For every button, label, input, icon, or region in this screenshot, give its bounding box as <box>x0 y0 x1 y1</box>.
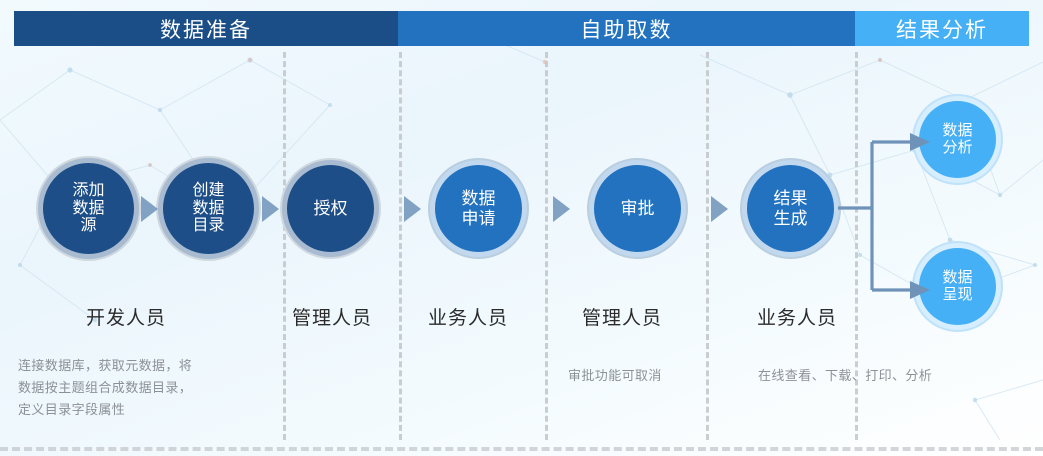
role-text: 开发人员 <box>86 308 166 329</box>
node-result-generation[interactable]: 结果生成 <box>742 160 839 257</box>
node-create-catalog[interactable]: 创建数据目录 <box>158 158 259 259</box>
phase-band-self-service-query[interactable]: 自助取数 <box>398 11 855 46</box>
description-result: 在线查看、下载、打印、分析 <box>758 365 1018 387</box>
node-label: 创建数据目录 <box>192 182 224 236</box>
description-data-preparation: 连接数据库，获取元数据，将 数据按主题组合成数据目录， 定义目录字段属性 <box>18 355 273 420</box>
phase-band-label: 自助取数 <box>581 14 673 44</box>
divider-after-data-request <box>545 52 548 440</box>
node-approval[interactable]: 审批 <box>589 160 686 257</box>
role-label-admin-1: 管理人员 <box>292 303 372 330</box>
node-authorize[interactable]: 授权 <box>282 160 379 257</box>
node-data-analysis[interactable]: 数据分析 <box>914 96 1001 183</box>
node-label: 结果生成 <box>774 189 808 227</box>
node-label: 添加数据源 <box>72 182 104 236</box>
role-label-admin-2: 管理人员 <box>582 303 662 330</box>
role-text: 管理人员 <box>292 308 372 329</box>
arrow-authorize-to-request-icon <box>404 196 421 222</box>
workflow-diagram: 数据准备 自助取数 结果分析 添加数据源 创建数据目录 授权 数据申请 审批 结… <box>0 0 1043 456</box>
role-label-developer: 开发人员 <box>86 303 166 330</box>
node-add-data-source[interactable]: 添加数据源 <box>38 158 139 259</box>
phase-band-label: 数据准备 <box>160 14 252 44</box>
divider-after-authorize <box>399 52 402 440</box>
role-label-business-1: 业务人员 <box>428 303 508 330</box>
role-text: 业务人员 <box>757 308 837 329</box>
role-text: 业务人员 <box>428 308 508 329</box>
phase-band-data-preparation[interactable]: 数据准备 <box>14 11 398 46</box>
node-data-request[interactable]: 数据申请 <box>430 160 527 257</box>
phase-band-result-analysis[interactable]: 结果分析 <box>855 11 1029 46</box>
node-label: 审批 <box>621 199 655 218</box>
node-data-presentation[interactable]: 数据呈现 <box>914 243 1001 330</box>
role-label-business-2: 业务人员 <box>757 303 837 330</box>
node-label: 数据申请 <box>462 189 496 227</box>
description-approval: 审批功能可取消 <box>568 365 728 387</box>
bottom-dashed-rule <box>0 447 1043 451</box>
divider-after-create-catalog <box>283 52 286 440</box>
arrow-request-to-approval-icon <box>553 196 570 222</box>
node-label: 数据呈现 <box>942 270 972 304</box>
role-text: 管理人员 <box>582 308 662 329</box>
node-label: 数据分析 <box>942 123 972 157</box>
phase-band-row: 数据准备 自助取数 结果分析 <box>14 11 1029 46</box>
arrow-approval-to-result-icon <box>711 196 728 222</box>
node-label: 授权 <box>314 199 348 218</box>
arrow-add-to-create-icon <box>141 196 158 222</box>
phase-band-label: 结果分析 <box>896 14 988 44</box>
arrow-create-to-authorize-icon <box>262 196 279 222</box>
